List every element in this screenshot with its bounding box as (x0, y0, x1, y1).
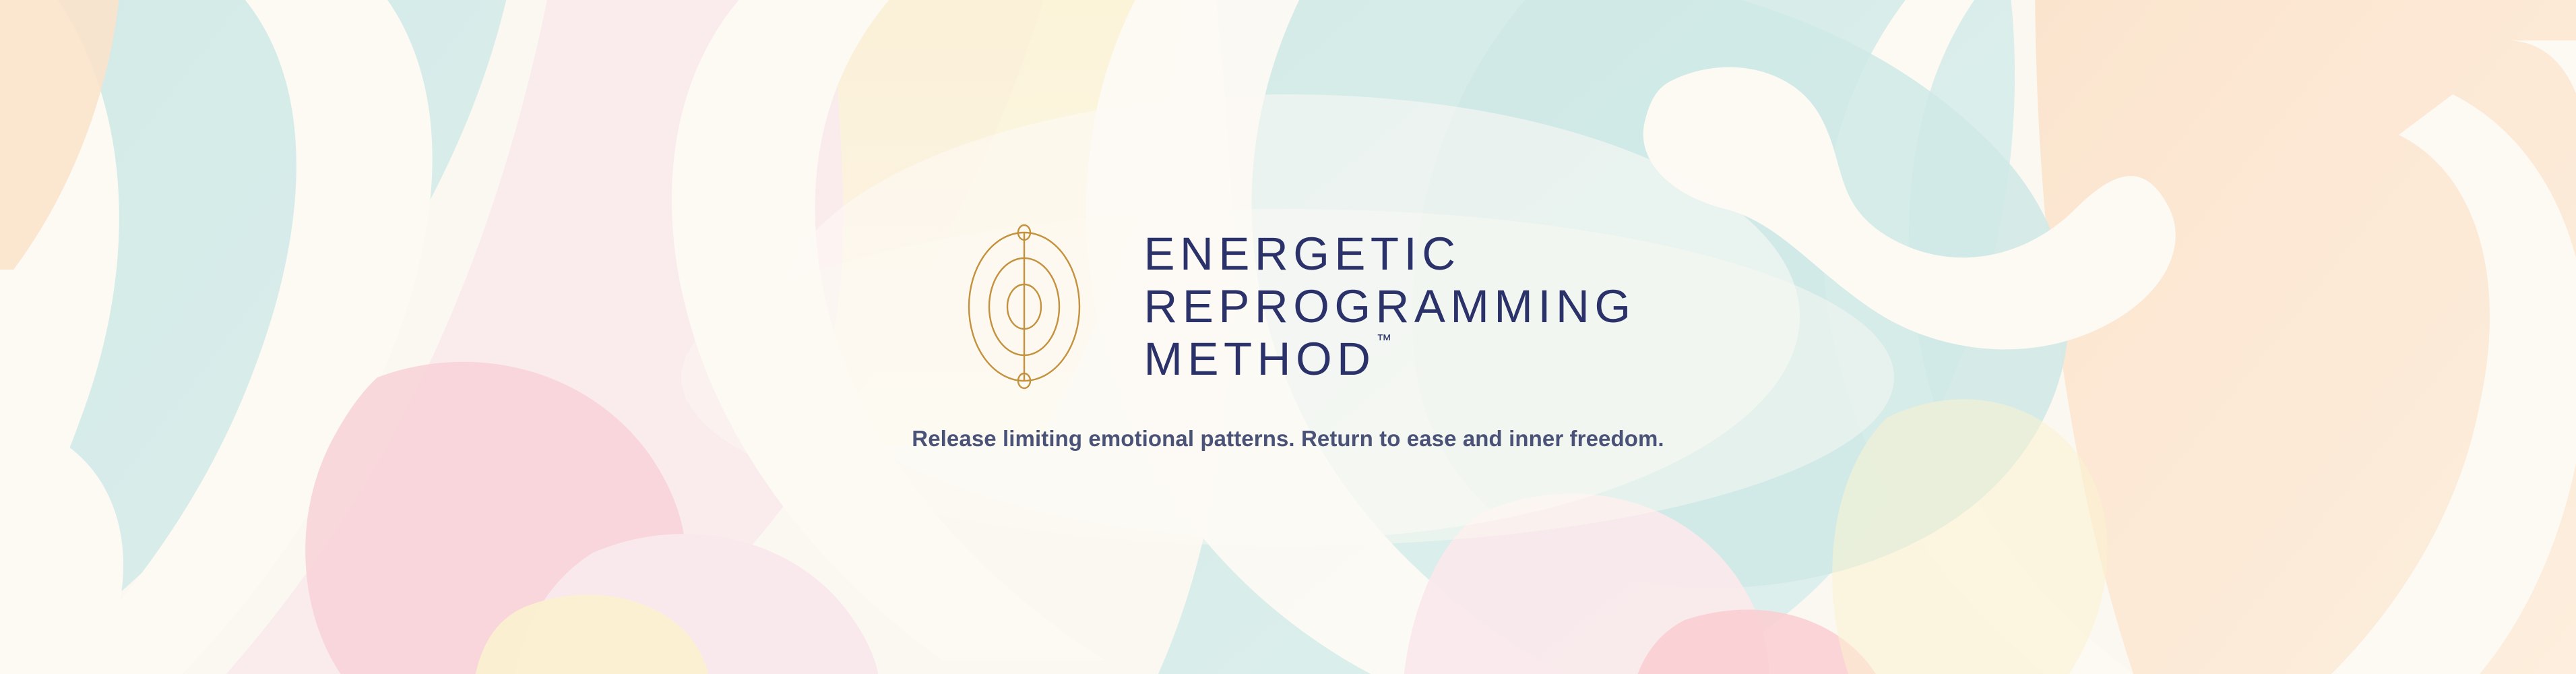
brand-banner: ENERGETIC REPROGRAMMING METHOD™ Release … (0, 0, 2576, 674)
wordmark-line-reprogramming: REPROGRAMMING (1143, 280, 1635, 333)
wordmark-line-method: METHOD™ (1143, 333, 1635, 386)
tagline: Release limiting emotional patterns. Ret… (912, 426, 1664, 452)
trademark-symbol: ™ (1376, 331, 1391, 348)
wordmark: ENERGETIC REPROGRAMMING METHOD™ (1143, 228, 1635, 386)
concentric-circles-mark-icon (940, 222, 1108, 391)
wordmark-method-text: METHOD (1143, 333, 1375, 385)
brand-lockup: ENERGETIC REPROGRAMMING METHOD™ (940, 222, 1635, 391)
wordmark-line-energetic: ENERGETIC (1143, 228, 1635, 280)
brand-lockup-stack: ENERGETIC REPROGRAMMING METHOD™ Release … (0, 0, 2576, 674)
